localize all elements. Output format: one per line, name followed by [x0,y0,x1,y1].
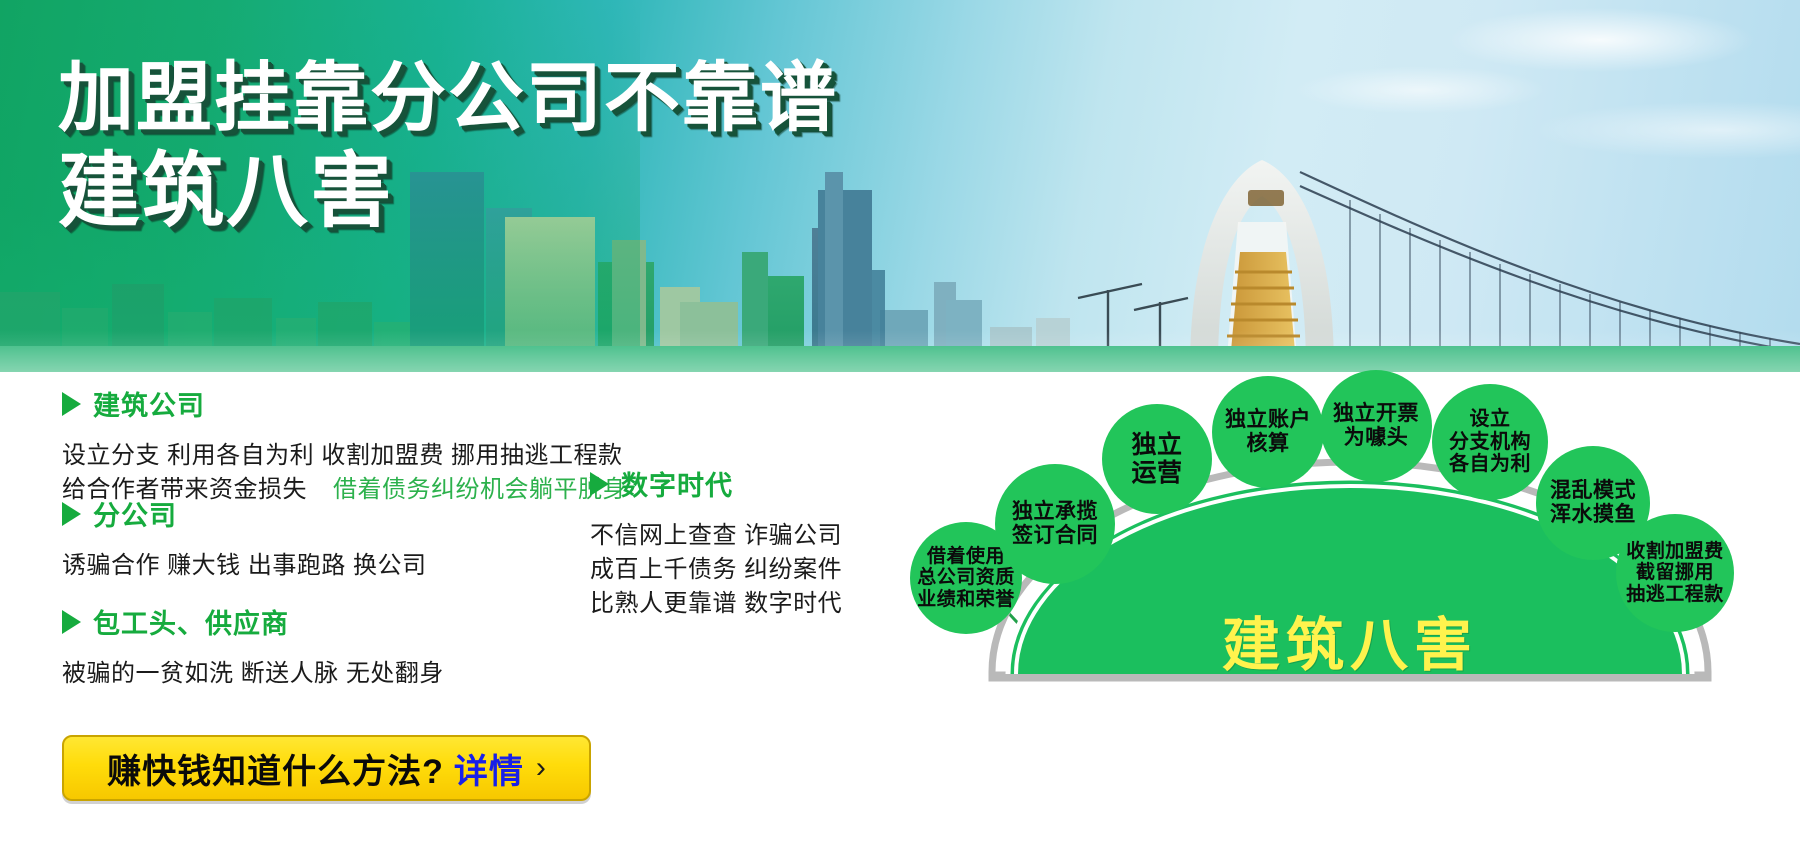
triangle-bullet-icon [62,392,81,416]
bubble-independent-invoicing[interactable]: 独立开票 为噱头 [1320,370,1432,482]
section-heading-label: 建筑公司 [93,384,205,423]
hero-title: 加盟挂靠分公司不靠谱 建筑八害 [58,58,838,237]
bubble-line: 独立开票 [1333,402,1419,426]
hero-ground-strip [0,346,1800,372]
bubble-line: 运营 [1131,459,1182,488]
dome-title: 建筑八害 [1066,598,1634,682]
section-heading-branch-company: 分公司 [62,494,427,533]
bubble-independent-operation[interactable]: 独立 运营 [1102,404,1212,514]
bubble-line: 浑水摸鱼 [1550,503,1636,527]
bubble-line: 收割加盟费 [1626,541,1724,563]
cta-main-label: 赚快钱知道什么方法? [107,744,444,793]
section-heading-label: 包工头、供应商 [93,602,289,641]
bubble-line: 总公司资质 [917,567,1015,589]
bubble-line: 抽逃工程款 [1626,584,1724,606]
body-line: 不信网上查查 诈骗公司 [590,519,890,553]
hero-title-line-2: 建筑八害 [58,148,838,237]
section-contractor-supplier: 包工头、供应商 被骗的一贫如洗 断送人脉 无处翻身 [62,602,444,691]
cta-detail-link[interactable]: 详情 [454,744,524,793]
section-branch-company: 分公司 诱骗合作 赚大钱 出事跑路 换公司 [62,494,427,583]
section-heading-contractor-supplier: 包工头、供应商 [62,602,444,641]
bubble-line: 截留挪用 [1626,562,1724,584]
bubble-diagram: 借着使用 总公司资质 业绩和荣誉 独立承揽 签订合同 独立 运营 独立账户 核算 [900,372,1800,844]
bubble-line: 设立 [1449,408,1531,431]
body-line: 成百上千债务 纠纷案件 [590,553,890,587]
body-line: 比熟人更靠谱 数字时代 [590,587,890,621]
section-body-digital-era: 不信网上查查 诈骗公司 成百上千债务 纠纷案件 比熟人更靠谱 数字时代 [590,519,890,621]
body-line: 诱骗合作 赚大钱 出事跑路 换公司 [62,549,427,583]
bubble-line: 独立承揽 [1012,500,1098,524]
section-heading-label: 分公司 [93,494,177,533]
bubble-line: 核算 [1225,432,1311,456]
bubble-line: 混乱模式 [1550,479,1636,503]
section-body-branch-company: 诱骗合作 赚大钱 出事跑路 换公司 [62,549,427,583]
section-digital-era: 数字时代 不信网上查查 诈骗公司 成百上千债务 纠纷案件 比熟人更靠谱 数字时代 [590,464,890,621]
content-area: 建筑公司 设立分支 利用各自为利 收割加盟费 挪用抽逃工程款 给合作者带来资金损… [0,372,900,844]
bubble-line: 各自为利 [1449,453,1531,476]
bubble-line: 独立 [1131,431,1182,460]
chevron-right-icon: › [536,753,546,783]
triangle-bullet-icon [62,502,81,526]
hero-title-line-1: 加盟挂靠分公司不靠谱 [58,58,838,140]
triangle-bullet-icon [590,472,609,496]
bubble-independent-contracting[interactable]: 独立承揽 签订合同 [995,464,1115,584]
body-line: 设立分支 利用各自为利 收割加盟费 挪用抽逃工程款 [62,439,627,473]
section-heading-label: 数字时代 [621,464,733,503]
section-body-contractor-supplier: 被骗的一贫如洗 断送人脉 无处翻身 [62,657,444,691]
body-line: 被骗的一贫如洗 断送人脉 无处翻身 [62,657,444,691]
bubble-line: 分支机构 [1449,431,1531,454]
cta-button[interactable]: 赚快钱知道什么方法? 详情 › [62,735,591,801]
poster-root: 加盟挂靠分公司不靠谱 建筑八害 建筑公司 设立分支 利用各自为利 收割加盟费 挪… [0,0,1800,844]
bubble-line: 独立账户 [1225,408,1311,432]
triangle-bullet-icon [62,610,81,634]
bubble-line: 签订合同 [1012,524,1098,548]
hero-banner: 加盟挂靠分公司不靠谱 建筑八害 [0,0,1800,372]
section-construction-company: 建筑公司 设立分支 利用各自为利 收割加盟费 挪用抽逃工程款 给合作者带来资金损… [62,384,627,507]
bubble-line: 为噱头 [1333,426,1419,450]
bubble-establish-branches[interactable]: 设立 分支机构 各自为利 [1432,384,1548,500]
bubble-independent-account[interactable]: 独立账户 核算 [1212,376,1324,488]
section-heading-digital-era: 数字时代 [590,464,890,503]
section-heading-construction-company: 建筑公司 [62,384,627,423]
bubble-line: 业绩和荣誉 [917,589,1015,611]
